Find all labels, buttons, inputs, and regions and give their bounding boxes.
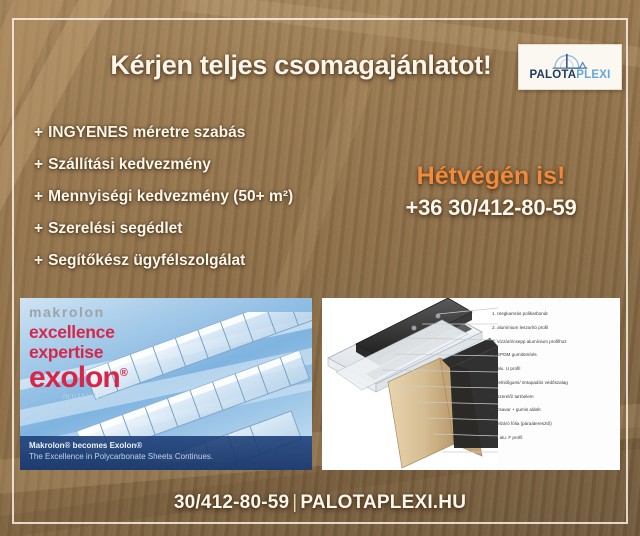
list-item: +Segítőkész ügyfélszolgálat [34,252,293,270]
legend-item: 3. vízzáró/csepp alumínium profilhoz [492,340,618,345]
legend-item: 6. felnitőgumi/ öntapadós védőszalag [492,381,618,386]
footer-website[interactable]: PALOTAPLEXI.HU [300,492,466,513]
exolon-footer-line-2: The Excellence in Polycarbonate Sheets C… [29,452,303,463]
logo-word-plexi: PLEXI [576,69,610,81]
technical-diagram-panel: 1. üregkamrás polikarbonát 2. alumínium … [322,298,620,470]
logo-wordmark: PALOTAPLEXI [529,70,610,82]
legend-item: 7. szerelő/ tartóelem [492,395,618,400]
headline-text: Kérjen teljes csomagajánlatot! [110,50,491,81]
legend-item: 1. üregkamrás polikarbonát [492,312,618,317]
footer-contact-bar: 30/412-80-59|PALOTAPLEXI.HU [0,492,640,514]
footer-separator: | [292,492,297,513]
registered-mark: ® [120,367,127,379]
promo-phone-number[interactable]: +36 30/412-80-59 [366,196,616,220]
exolon-tagline-1: excellence [29,323,127,343]
plus-icon: + [34,156,43,173]
plus-icon: + [34,188,43,205]
diagram-legend-list: 1. üregkamrás polikarbonát 2. alumínium … [492,312,618,450]
legend-item: 2. alumínium leszorító profil [492,326,618,331]
bottom-panels: makrolon excellence expertise exolon® mu… [20,298,620,470]
exolon-brand-panel: makrolon excellence expertise exolon® mu… [20,298,312,470]
list-item-label: INGYENES méretre szabás [48,124,245,141]
legend-item: 5. alu. U profil [492,367,618,372]
legend-item: 4. EPDM gumitömítés [492,353,618,358]
footer-phone[interactable]: 30/412-80-59 [174,492,289,513]
list-item-label: Szállítási kedvezmény [48,156,211,173]
company-logo[interactable]: PALOTAPLEXI [518,44,622,90]
list-item: +Szerelési segédlet [34,220,293,238]
list-item-label: Mennyiségi kedvezmény (50+ m²) [48,188,293,205]
pergola-beam [273,0,410,304]
pergola-beam [0,0,159,292]
legend-item: 9. elzáró fólia (páraáteresztő) [492,422,618,427]
promo-headline: Hétvégén is! [366,163,616,191]
exolon-footer-line-1: Makrolon® becomes Exolon® [29,441,303,452]
pergola-beam [156,0,640,14]
promo-block: Hétvégén is! +36 30/412-80-59 [366,163,616,220]
roof-profile-cutaway-diagram [322,298,498,470]
exolon-wordmark-text: exolon [29,361,120,394]
makrolon-wordmark: makrolon [29,305,127,319]
list-item-label: Szerelési segédlet [48,220,182,237]
legend-item: 8. csavar + gumis alátét [492,408,618,413]
list-item-label: Segítőkész ügyfélszolgálat [48,252,245,269]
arch-bridge-icon [551,53,589,69]
plus-icon: + [34,220,43,237]
logo-word-palota: PALOTA [529,69,576,81]
advertisement-banner: Kérjen teljes csomagajánlatot! PALOTAPLE… [0,0,640,536]
list-item: +Szállítási kedvezmény [34,156,293,174]
exolon-wordmark: exolon® [29,362,127,394]
exolon-footer-bar: Makrolon® becomes Exolon® The Excellence… [20,436,312,470]
plus-icon: + [34,124,43,141]
legend-item: 10. alu. F profil [492,436,618,441]
benefits-list: +INGYENES méretre szabás +Szállítási ked… [34,124,293,284]
exolon-tagline-2: expertise [29,343,127,363]
list-item: +Mennyiségi kedvezmény (50+ m²) [34,188,293,206]
plus-icon: + [34,252,43,269]
exolon-brand-text: makrolon excellence expertise exolon® mu… [29,305,127,401]
list-item: +INGYENES méretre szabás [34,124,293,142]
